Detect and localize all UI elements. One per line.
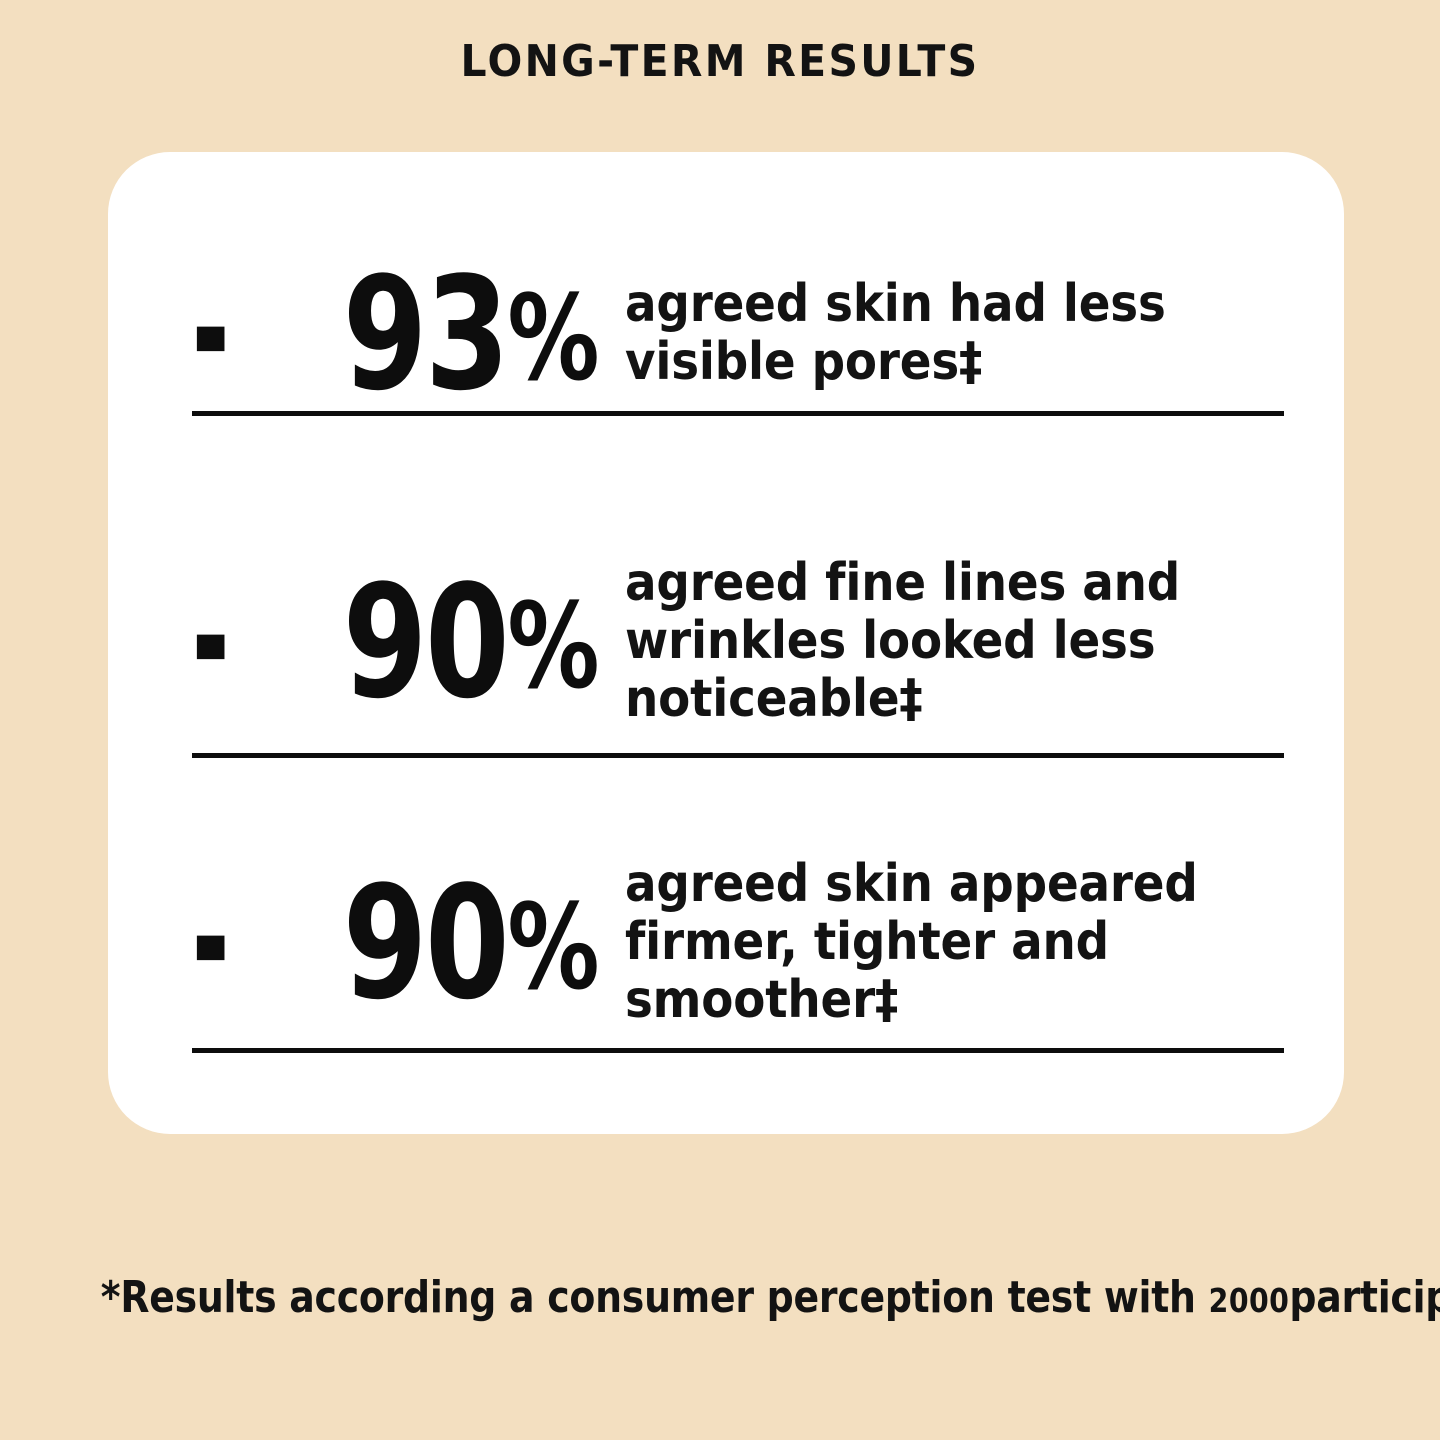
stat-number: 90 <box>343 852 508 1034</box>
stat-value: 90% <box>341 865 598 1021</box>
percent-symbol: % <box>507 269 598 407</box>
results-poster: LONG-TERM RESULTS - 93% agreed skin had … <box>0 0 1440 1440</box>
stat-row: - 93% agreed skin had less visible pores… <box>192 248 1284 420</box>
stat-number: 93 <box>343 243 508 425</box>
stat-claim-text: agreed skin had less visible pores‡ <box>598 276 1215 392</box>
stat-row: - 90% agreed skin appeared firmer, tight… <box>192 838 1284 1048</box>
footnote-participant-count: 2000 <box>1209 1281 1290 1320</box>
minus-sign-icon: - <box>192 270 238 391</box>
stat-divider <box>192 411 1284 416</box>
stat-claim-text: agreed skin appeared firmer, tighter and… <box>598 856 1215 1030</box>
stat-value: 93% <box>341 256 598 412</box>
minus-sign-icon: - <box>192 578 238 699</box>
minus-sign-icon: - <box>192 879 238 1000</box>
percent-symbol: % <box>507 577 598 715</box>
page-title: LONG-TERM RESULTS <box>50 36 1389 87</box>
stat-value: 90% <box>341 564 598 720</box>
percent-symbol: % <box>507 878 598 1016</box>
stat-row: - 90% agreed fine lines and wrinkles loo… <box>192 542 1284 742</box>
stat-claim-text: agreed fine lines and wrinkles looked le… <box>598 555 1215 729</box>
footnote: *Results according a consumer perception… <box>101 1272 1339 1323</box>
results-card: - 93% agreed skin had less visible pores… <box>108 152 1344 1134</box>
footnote-suffix: participants. <box>1289 1272 1440 1323</box>
stat-list: - 93% agreed skin had less visible pores… <box>192 152 1284 1134</box>
stat-divider <box>192 753 1284 758</box>
footnote-prefix: *Results according a consumer perception… <box>101 1272 1209 1323</box>
stat-divider <box>192 1048 1284 1053</box>
stat-number: 90 <box>343 551 508 733</box>
